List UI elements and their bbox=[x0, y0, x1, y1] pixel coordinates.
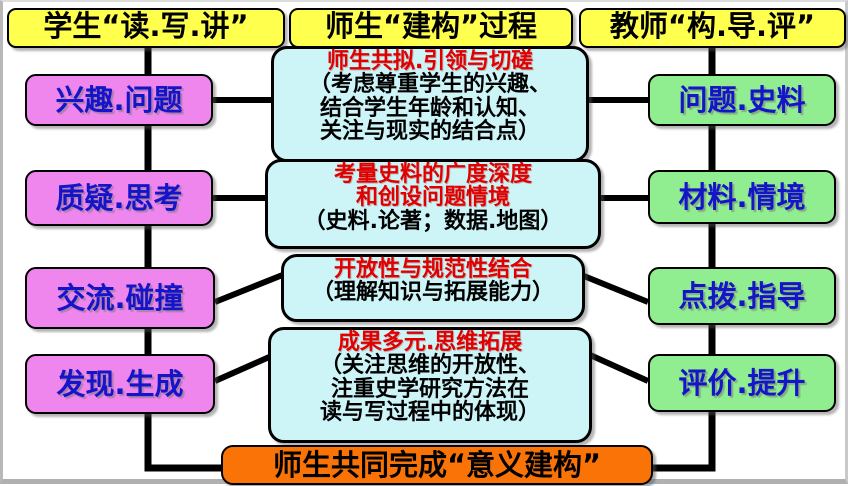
middle-node-4-title: 成果多元.思维拓展 bbox=[338, 331, 522, 354]
left-node-2-label: 质疑.思考 bbox=[55, 184, 182, 213]
link-right-3 bbox=[579, 274, 648, 302]
left-node-2: 质疑.思考 bbox=[25, 170, 213, 226]
header-process: 师生“建构”过程 bbox=[289, 8, 573, 48]
left-node-3: 交流.碰撞 bbox=[25, 267, 215, 329]
right-node-4-label: 评价.提升 bbox=[678, 369, 805, 398]
middle-node-4-line-1: （关注思维的开放性、 bbox=[320, 354, 540, 378]
middle-node-1: 师生共拟.引领与切磋 （考虑尊重学生的兴趣、 结合学生年龄和认知、 关注与现实的… bbox=[271, 46, 589, 162]
right-node-1-label: 问题.史料 bbox=[678, 86, 805, 115]
middle-node-1-line-2: 结合学生年龄和认知、 bbox=[320, 97, 540, 121]
header-student-label: 学生“读.写.讲” bbox=[43, 12, 248, 41]
left-node-4: 发现.生成 bbox=[25, 354, 215, 414]
header-student: 学生“读.写.讲” bbox=[7, 8, 285, 48]
left-node-1-label: 兴趣.问题 bbox=[55, 86, 182, 115]
middle-node-4: 成果多元.思维拓展 （关注思维的开放性、 注重史学研究方法在 读与写过程中的体现… bbox=[268, 327, 592, 443]
right-node-2: 材料.情境 bbox=[648, 170, 836, 224]
middle-node-2: 考量史料的广度深度 和创设问题情境 （史料.论著；数据.地图） bbox=[265, 159, 601, 249]
right-node-4: 评价.提升 bbox=[648, 354, 836, 412]
middle-node-1-title: 师生共拟.引领与切磋 bbox=[327, 50, 533, 73]
right-node-2-label: 材料.情境 bbox=[678, 183, 805, 212]
middle-node-3-line-1: （理解知识与拓展能力） bbox=[312, 281, 554, 305]
diagram-canvas: 学生“读.写.讲” 师生“建构”过程 教师“构.导.评” 兴趣.问题 质疑.思考… bbox=[0, 0, 848, 484]
right-node-1: 问题.史料 bbox=[648, 74, 836, 126]
middle-node-3: 开放性与规范性结合 （理解知识与拓展能力） bbox=[281, 254, 585, 322]
link-left-3 bbox=[215, 274, 285, 302]
bottom-summary-node: 师生共同完成“意义建构” bbox=[221, 445, 653, 485]
header-teacher: 教师“构.导.评” bbox=[579, 8, 846, 48]
middle-node-2-line-1: 和创设问题情境 bbox=[356, 186, 510, 209]
left-node-1: 兴趣.问题 bbox=[25, 74, 213, 126]
left-node-4-label: 发现.生成 bbox=[56, 370, 183, 399]
header-teacher-label: 教师“构.导.评” bbox=[610, 12, 815, 41]
middle-node-4-line-3: 读与写过程中的体现） bbox=[320, 401, 540, 425]
middle-node-2-line-2: （史料.论著；数据.地图） bbox=[304, 210, 563, 234]
right-node-3: 点拨.指导 bbox=[648, 267, 836, 325]
middle-node-3-title: 开放性与规范性结合 bbox=[334, 258, 532, 281]
middle-node-1-line-1: （考虑尊重学生的兴趣、 bbox=[309, 73, 551, 97]
left-node-3-label: 交流.碰撞 bbox=[56, 284, 183, 313]
middle-node-1-line-3: 关注与现实的结合点） bbox=[320, 120, 540, 144]
header-process-label: 师生“建构”过程 bbox=[325, 12, 537, 41]
right-node-3-label: 点拨.指导 bbox=[678, 282, 805, 311]
middle-node-2-title: 考量史料的广度深度 bbox=[334, 163, 532, 186]
bottom-summary-label: 师生共同完成“意义建构” bbox=[273, 451, 601, 480]
middle-node-4-line-2: 注重史学研究方法在 bbox=[331, 378, 529, 402]
